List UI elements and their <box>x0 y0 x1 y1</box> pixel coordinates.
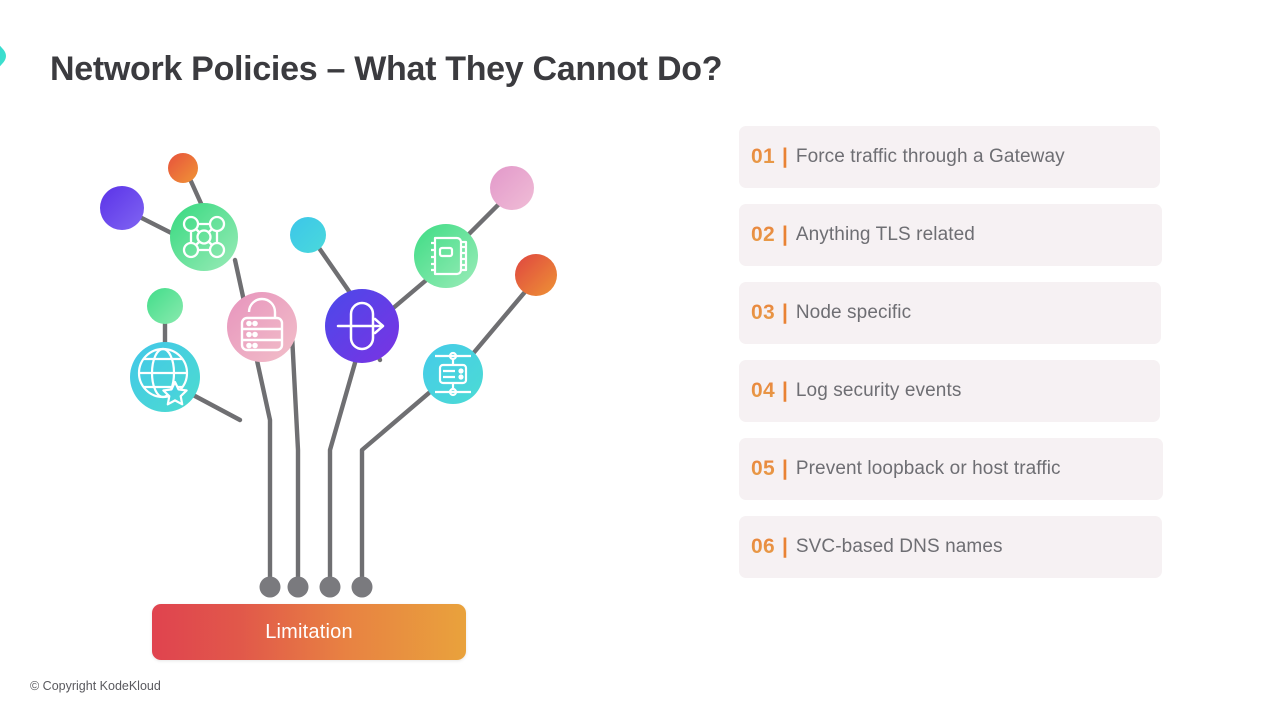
limitation-tree-diagram <box>30 120 590 670</box>
list-item[interactable]: 01 | Force traffic through a Gateway <box>739 126 1160 188</box>
list-item[interactable]: 03 | Node specific <box>739 282 1161 344</box>
list-item-label: Prevent loopback or host traffic <box>796 458 1061 480</box>
limitation-root-bar: Limitation <box>152 604 466 660</box>
list-item-separator: | <box>782 145 788 169</box>
leaf-dot-green <box>147 288 183 324</box>
list-item-number: 03 <box>751 301 775 325</box>
list-item-label: SVC-based DNS names <box>796 536 1003 558</box>
logbook-icon <box>414 224 478 288</box>
list-item-label: Log security events <box>796 380 962 402</box>
leaf-dot-red-orange <box>515 254 557 296</box>
globe-star-icon <box>130 342 200 412</box>
list-item-label: Anything TLS related <box>796 224 975 246</box>
list-item-number: 05 <box>751 457 775 481</box>
leaf-dot-cyan <box>290 217 326 253</box>
chevron-right-icon <box>0 4 38 108</box>
slide-root: Network Policies – What They Cannot Do? <box>0 0 1280 720</box>
list-item[interactable]: 05 | Prevent loopback or host traffic <box>739 438 1163 500</box>
list-item-separator: | <box>782 223 788 247</box>
limitation-root-label: Limitation <box>265 621 353 644</box>
list-item-label: Force traffic through a Gateway <box>796 146 1065 168</box>
list-item[interactable]: 06 | SVC-based DNS names <box>739 516 1162 578</box>
list-item-separator: | <box>782 457 788 481</box>
limitations-list: 01 | Force traffic through a Gateway 02 … <box>739 126 1163 594</box>
list-item[interactable]: 02 | Anything TLS related <box>739 204 1162 266</box>
leaf-dot-indigo <box>100 186 144 230</box>
load-balancer-server-icon <box>423 344 483 404</box>
list-item-label: Node specific <box>796 302 911 324</box>
list-item-number: 06 <box>751 535 775 559</box>
leaf-dot-orange <box>168 153 198 183</box>
page-title: Network Policies – What They Cannot Do? <box>50 50 722 89</box>
trunk-dot-group <box>260 577 373 598</box>
leaf-dot-pink <box>490 166 534 210</box>
list-item-number: 01 <box>751 145 775 169</box>
list-item-separator: | <box>782 379 788 403</box>
traffic-gateway-arrow-icon <box>325 289 399 363</box>
copyright-footer: © Copyright KodeKloud <box>30 679 161 693</box>
list-item-separator: | <box>782 301 788 325</box>
list-item[interactable]: 04 | Log security events <box>739 360 1160 422</box>
secure-server-lock-icon <box>227 292 297 362</box>
list-item-number: 04 <box>751 379 775 403</box>
network-mesh-icon <box>170 203 238 271</box>
list-item-separator: | <box>782 535 788 559</box>
list-item-number: 02 <box>751 223 775 247</box>
